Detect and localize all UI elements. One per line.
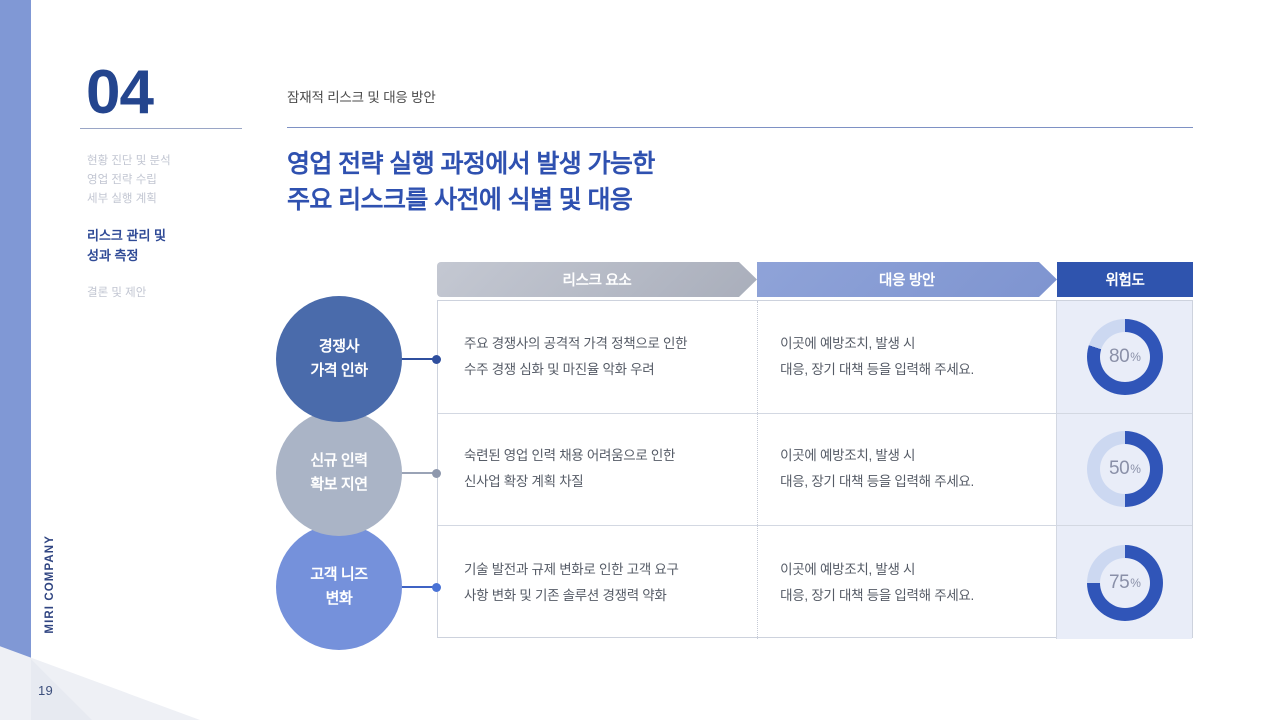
- plan-text-line1: 이곳에 예방조치, 발생 시: [780, 331, 974, 357]
- section-divider: [80, 128, 242, 129]
- risk-gauge-number: 80: [1109, 346, 1129, 368]
- slide-canvas: 19 MIRI COMPANY 04 현황 진단 및 분석 영업 전략 수립 세…: [0, 0, 1280, 720]
- cell-risk-level: 75%: [1056, 526, 1192, 639]
- risk-text-line1: 기술 발전과 규제 변화로 인한 고객 요구: [464, 557, 679, 583]
- risk-gauge-value: 50%: [1087, 431, 1163, 507]
- section-toc: 현황 진단 및 분석 영업 전략 수립 세부 실행 계획 리스크 관리 및 성과…: [87, 152, 257, 303]
- risk-gauge-value: 80%: [1087, 319, 1163, 395]
- toc-item-4[interactable]: 리스크 관리 및: [87, 226, 257, 246]
- category-circle-3[interactable]: 고객 니즈 변화: [276, 524, 402, 650]
- plan-text-line2: 대응, 장기 대책 등을 입력해 주세요.: [780, 469, 974, 495]
- risk-text-line1: 주요 경쟁사의 공격적 가격 정책으로 인한: [464, 331, 687, 357]
- connector-dot-1: [432, 355, 441, 364]
- risk-table: 주요 경쟁사의 공격적 가격 정책으로 인한 수주 경쟁 심화 및 마진율 악화…: [437, 300, 1193, 638]
- category-label-2b: 확보 지연: [310, 473, 367, 497]
- risk-text-line2: 사항 변화 및 기존 솔루션 경쟁력 약화: [464, 583, 679, 609]
- category-label-1b: 가격 인하: [310, 359, 367, 383]
- toc-item-3[interactable]: 세부 실행 계획: [87, 190, 257, 209]
- risk-gauge-number: 50: [1109, 458, 1129, 480]
- column-header-risk: 리스크 요소: [437, 262, 757, 297]
- connector-dot-3: [432, 583, 441, 592]
- column-header-plan: 대응 방안: [757, 262, 1057, 297]
- table-row: 기술 발전과 규제 변화로 인한 고객 요구 사항 변화 및 기존 솔루션 경쟁…: [438, 526, 1192, 639]
- connector-dot-2: [432, 469, 441, 478]
- toc-item-1[interactable]: 현황 진단 및 분석: [87, 152, 257, 171]
- risk-text-line2: 신사업 확장 계획 차질: [464, 469, 675, 495]
- cell-risk-level: 50%: [1056, 414, 1192, 526]
- left-accent-bar: [0, 0, 31, 658]
- percent-symbol: %: [1130, 576, 1140, 590]
- table-row: 주요 경쟁사의 공격적 가격 정책으로 인한 수주 경쟁 심화 및 마진율 악화…: [438, 301, 1192, 414]
- category-label-2a: 신규 인력: [310, 449, 367, 473]
- percent-symbol: %: [1130, 350, 1140, 364]
- page-number: 19: [38, 683, 53, 698]
- toc-item-6[interactable]: 결론 및 제안: [87, 284, 257, 303]
- column-header-level: 위험도: [1057, 262, 1193, 297]
- plan-text-line2: 대응, 장기 대책 등을 입력해 주세요.: [780, 583, 974, 609]
- cell-response-plan: 이곳에 예방조치, 발생 시 대응, 장기 대책 등을 입력해 주세요.: [757, 526, 1056, 639]
- risk-text-line2: 수주 경쟁 심화 및 마진율 악화 우려: [464, 357, 687, 383]
- company-mark: MIRI COMPANY: [44, 535, 56, 634]
- percent-symbol: %: [1130, 462, 1140, 476]
- table-row: 숙련된 영업 인력 채용 어려움으로 인한 신사업 확장 계획 차질 이곳에 예…: [438, 414, 1192, 527]
- cell-risk-factor: 기술 발전과 규제 변화로 인한 고객 요구 사항 변화 및 기존 솔루션 경쟁…: [438, 526, 757, 639]
- table-header-band: 리스크 요소 대응 방안 위험도: [437, 262, 1193, 297]
- risk-gauge-number: 75: [1109, 572, 1129, 594]
- toc-item-5[interactable]: 성과 측정: [87, 246, 257, 266]
- risk-text-line1: 숙련된 영업 인력 채용 어려움으로 인한: [464, 443, 675, 469]
- page-title-line1: 영업 전략 실행 과정에서 발생 가능한: [287, 146, 655, 182]
- category-label-3a: 고객 니즈: [310, 563, 367, 587]
- category-label-3b: 변화: [326, 587, 353, 611]
- plan-text-line2: 대응, 장기 대책 등을 입력해 주세요.: [780, 357, 974, 383]
- risk-gauge-donut: 80%: [1087, 319, 1163, 395]
- risk-gauge-value: 75%: [1087, 545, 1163, 621]
- page-title: 영업 전략 실행 과정에서 발생 가능한 주요 리스크를 사전에 식별 및 대응: [287, 146, 655, 218]
- toc-item-2[interactable]: 영업 전략 수립: [87, 171, 257, 190]
- category-circle-2[interactable]: 신규 인력 확보 지연: [276, 410, 402, 536]
- section-number: 04: [86, 62, 153, 124]
- cell-risk-factor: 주요 경쟁사의 공격적 가격 정책으로 인한 수주 경쟁 심화 및 마진율 악화…: [438, 301, 757, 413]
- cell-response-plan: 이곳에 예방조치, 발생 시 대응, 장기 대책 등을 입력해 주세요.: [757, 301, 1056, 413]
- header-divider: [287, 127, 1193, 128]
- plan-text-line1: 이곳에 예방조치, 발생 시: [780, 557, 974, 583]
- cell-response-plan: 이곳에 예방조치, 발생 시 대응, 장기 대책 등을 입력해 주세요.: [757, 414, 1056, 526]
- eyebrow-title: 잠재적 리스크 및 대응 방안: [287, 86, 436, 106]
- plan-text-line1: 이곳에 예방조치, 발생 시: [780, 443, 974, 469]
- category-circle-1[interactable]: 경쟁사 가격 인하: [276, 296, 402, 422]
- risk-gauge-donut: 75%: [1087, 545, 1163, 621]
- cell-risk-factor: 숙련된 영업 인력 채용 어려움으로 인한 신사업 확장 계획 차질: [438, 414, 757, 526]
- cell-risk-level: 80%: [1056, 301, 1192, 413]
- page-title-line2: 주요 리스크를 사전에 식별 및 대응: [287, 182, 655, 218]
- category-label-1a: 경쟁사: [319, 335, 359, 359]
- risk-gauge-donut: 50%: [1087, 431, 1163, 507]
